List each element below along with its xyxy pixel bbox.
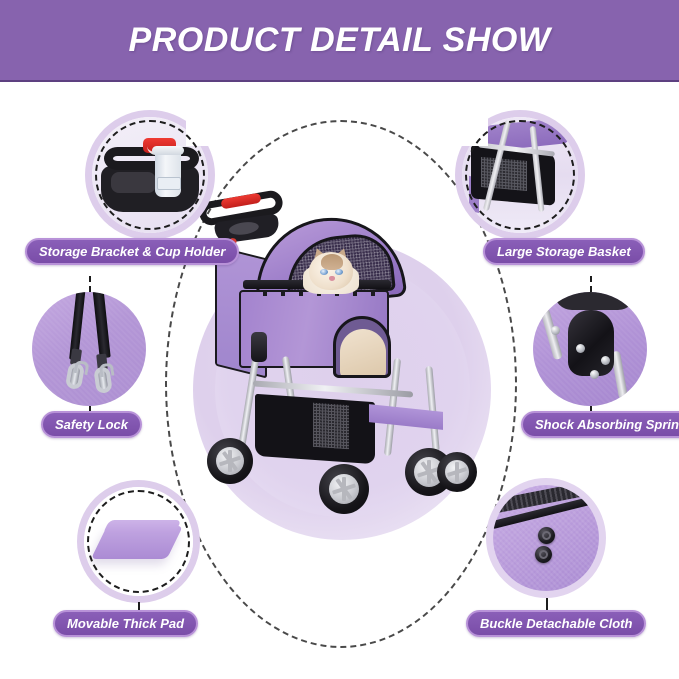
header-banner: PRODUCT DETAIL SHOW: [0, 0, 679, 82]
mug-label-icon: [157, 177, 181, 189]
basket-mesh-panel: [313, 403, 349, 450]
cat-eye-right: [335, 269, 343, 275]
label-large-storage-basket[interactable]: Large Storage Basket: [483, 238, 645, 265]
cat-eye-left: [320, 269, 328, 275]
shock-joint-icon: [568, 310, 614, 376]
front-door-opening: [333, 316, 391, 378]
label-storage-bracket-cup-holder[interactable]: Storage Bracket & Cup Holder: [25, 238, 239, 265]
page-title: PRODUCT DETAIL SHOW: [129, 21, 551, 60]
leader-buckle-cloth: [546, 598, 548, 610]
rivet-icon-3: [590, 370, 599, 379]
cat-nose: [329, 276, 335, 281]
pad-top-surface-icon: [102, 520, 181, 534]
callout-shock-absorbing-spring[interactable]: [533, 292, 647, 406]
callout-image-safety-lock: [32, 292, 146, 406]
storage-tray-icon: [101, 166, 198, 212]
leader-shock-spring-top: [590, 276, 592, 292]
callout-image-thick-pad: [77, 480, 200, 603]
mug-lid-icon: [152, 146, 183, 155]
label-shock-absorbing-spring[interactable]: Shock Absorbing Spring: [521, 411, 679, 438]
travel-mug-icon: [155, 151, 182, 197]
dash-mask-b: [448, 112, 488, 146]
cat-face-mask: [321, 254, 343, 270]
wheel-front-left: [319, 464, 369, 514]
folding-hinge: [251, 332, 267, 362]
cat-paw: [340, 329, 386, 378]
label-safety-lock[interactable]: Safety Lock: [41, 411, 142, 438]
callout-safety-lock[interactable]: [32, 292, 146, 406]
infographic-canvas: PRODUCT DETAIL SHOW: [0, 0, 679, 679]
snap-button-icon-1: [538, 527, 555, 544]
cat-head: [309, 252, 353, 290]
leader-safety-lock-top: [89, 276, 91, 292]
basket-mesh-icon: [481, 157, 527, 191]
callout-image-shock-spring: [533, 292, 647, 406]
wheel-front-right: [437, 452, 477, 492]
frame-top-icon: [554, 292, 636, 310]
product-image-pet-stroller: [193, 190, 493, 530]
callout-movable-thick-pad[interactable]: [77, 480, 200, 603]
cat-illustration: [303, 248, 359, 296]
label-buckle-detachable-cloth[interactable]: Buckle Detachable Cloth: [466, 610, 646, 637]
label-movable-thick-pad[interactable]: Movable Thick Pad: [53, 610, 198, 637]
wheel-rear-left: [207, 438, 253, 484]
callout-buckle-detachable-cloth[interactable]: [486, 478, 606, 598]
dash-mask-a: [186, 112, 234, 146]
callout-image-buckle-cloth: [486, 478, 606, 598]
frame-tube-front-right: [425, 366, 439, 452]
